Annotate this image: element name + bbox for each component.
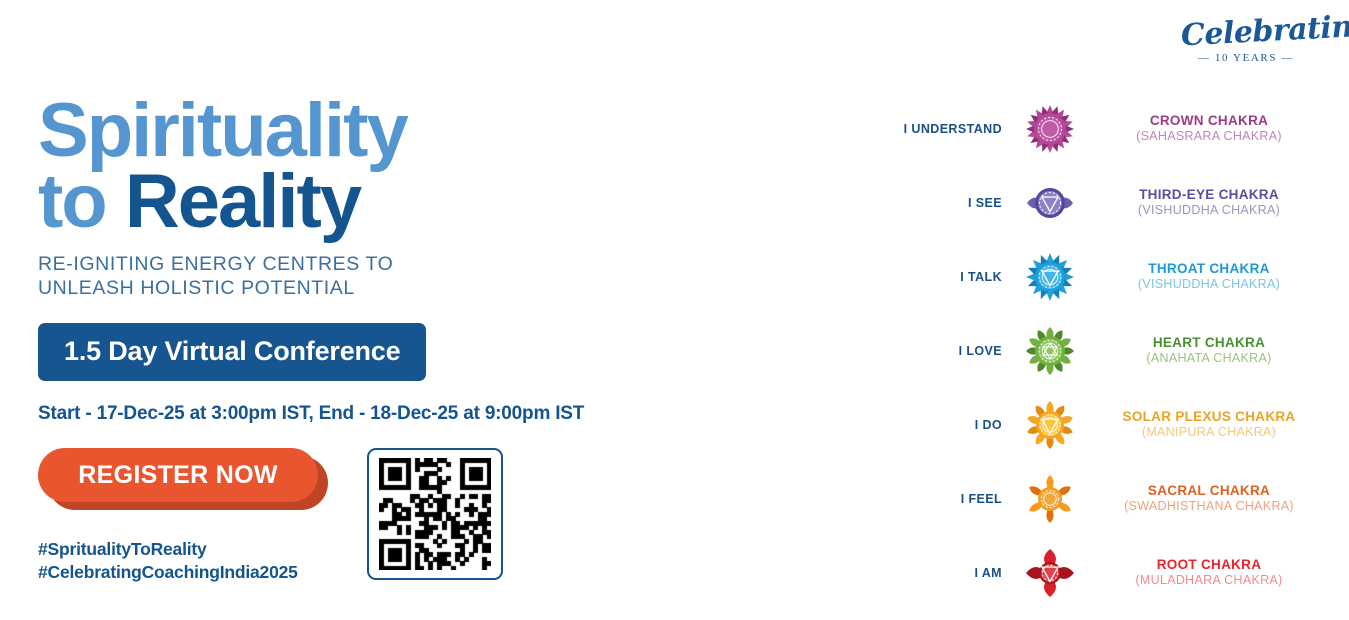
chakra-row: I SEE THIRD-EYE CHAKRA(VISHUDDHA CHAKRA): [896, 166, 1326, 240]
chakra-text-block: THIRD-EYE CHAKRA(VISHUDDHA CHAKRA): [1086, 187, 1326, 219]
chakra-name: CROWN CHAKRA: [1092, 113, 1326, 129]
register-now-button[interactable]: REGISTER NOW: [38, 448, 318, 502]
subheadline: RE-IGNITING ENERGY CENTRES TO UNLEASH HO…: [38, 253, 658, 301]
chakra-affirmation: I UNDERSTAND: [896, 122, 1014, 136]
event-datetime: Start - 17-Dec-25 at 3:00pm IST, End - 1…: [38, 403, 658, 425]
chakra-list: I UNDERSTAND: [896, 92, 1326, 610]
chakra-sanskrit-name: (SAHASRARA CHAKRA): [1092, 129, 1326, 145]
chakra-affirmation: I LOVE: [896, 344, 1014, 358]
root-chakra-icon: [1014, 548, 1086, 598]
headline-line-1: Spirituality: [38, 96, 658, 167]
conference-duration-badge: 1.5 Day Virtual Conference: [38, 323, 426, 381]
hashtag-group: #SpritualityToReality #CelebratingCoachi…: [38, 538, 298, 585]
chakra-row: I LOVE HEART CHAKRA(ANAHATA CHAKRA): [896, 314, 1326, 388]
throat-chakra-icon: [1014, 252, 1086, 302]
chakra-name: THROAT CHAKRA: [1092, 261, 1326, 277]
chakra-sanskrit-name: (MULADHARA CHAKRA): [1092, 573, 1326, 589]
chakra-name: SACRAL CHAKRA: [1092, 483, 1326, 499]
crown-chakra-icon: [1014, 104, 1086, 154]
chakra-row: I UNDERSTAND: [896, 92, 1326, 166]
chakra-sanskrit-name: (MANIPURA CHAKRA): [1092, 425, 1326, 441]
chakra-name: HEART CHAKRA: [1092, 335, 1326, 351]
chakra-row: I FEEL SACRAL CHAKRA(SWADHISTHANA CHAKRA…: [896, 462, 1326, 536]
chakra-text-block: SACRAL CHAKRA(SWADHISTHANA CHAKRA): [1086, 483, 1326, 515]
chakra-text-block: SOLAR PLEXUS CHAKRA(MANIPURA CHAKRA): [1086, 409, 1326, 441]
chakra-sanskrit-name: (VISHUDDHA CHAKRA): [1092, 277, 1326, 293]
conference-poster: Celebrating — 10 YEARS — Spirituality to…: [0, 0, 1349, 620]
chakra-affirmation: I TALK: [896, 270, 1014, 284]
chakra-affirmation: I AM: [896, 566, 1014, 580]
qr-code-box[interactable]: [367, 448, 503, 580]
subheadline-line-2: UNLEASH HOLISTIC POTENTIAL: [38, 277, 658, 301]
logo-years-text: — 10 YEARS —: [1181, 52, 1311, 64]
register-button-wrapper: REGISTER NOW: [38, 448, 328, 510]
chakra-text-block: HEART CHAKRA(ANAHATA CHAKRA): [1086, 335, 1326, 367]
left-content: Spirituality to Reality RE-IGNITING ENER…: [38, 96, 658, 425]
third-eye-chakra-icon: [1014, 178, 1086, 228]
chakra-affirmation: I SEE: [896, 196, 1014, 210]
chakra-text-block: THROAT CHAKRA(VISHUDDHA CHAKRA): [1086, 261, 1326, 293]
chakra-affirmation: I FEEL: [896, 492, 1014, 506]
page-title: Spirituality to Reality: [38, 96, 658, 237]
chakra-affirmation: I DO: [896, 418, 1014, 432]
chakra-name: THIRD-EYE CHAKRA: [1092, 187, 1326, 203]
headline-line-2-light: to: [38, 159, 125, 244]
heart-chakra-icon: [1014, 326, 1086, 376]
sacral-chakra-icon: [1014, 474, 1086, 524]
chakra-row: I DO SOLAR PLEXUS CHAKRA(MANIPURA CHAKRA…: [896, 388, 1326, 462]
chakra-sanskrit-name: (ANAHATA CHAKRA): [1092, 351, 1326, 367]
headline-line-2: to Reality: [38, 167, 658, 238]
chakra-sanskrit-name: (VISHUDDHA CHAKRA): [1092, 203, 1326, 219]
hashtag-2: #CelebratingCoachingIndia2025: [38, 561, 298, 584]
chakra-name: ROOT CHAKRA: [1092, 557, 1326, 573]
subheadline-line-1: RE-IGNITING ENERGY CENTRES TO: [38, 253, 658, 277]
chakra-text-block: CROWN CHAKRA(SAHASRARA CHAKRA): [1086, 113, 1326, 145]
hashtag-1: #SpritualityToReality: [38, 538, 298, 561]
logo-script-text: Celebrating: [1180, 15, 1311, 52]
solar-plexus-chakra-icon: [1014, 400, 1086, 450]
chakra-text-block: ROOT CHAKRA(MULADHARA CHAKRA): [1086, 557, 1326, 589]
headline-line-2-dark: Reality: [125, 159, 360, 244]
qr-code-icon[interactable]: [379, 458, 491, 570]
celebrating-10-years-logo: Celebrating — 10 YEARS —: [1181, 18, 1311, 64]
chakra-sanskrit-name: (SWADHISTHANA CHAKRA): [1092, 499, 1326, 515]
chakra-name: SOLAR PLEXUS CHAKRA: [1092, 409, 1326, 425]
chakra-row: I AM ROOT CHAKRA(MULADHARA CHAKRA): [896, 536, 1326, 610]
chakra-row: I TALK THROAT CHAKRA(VISHUDDH: [896, 240, 1326, 314]
